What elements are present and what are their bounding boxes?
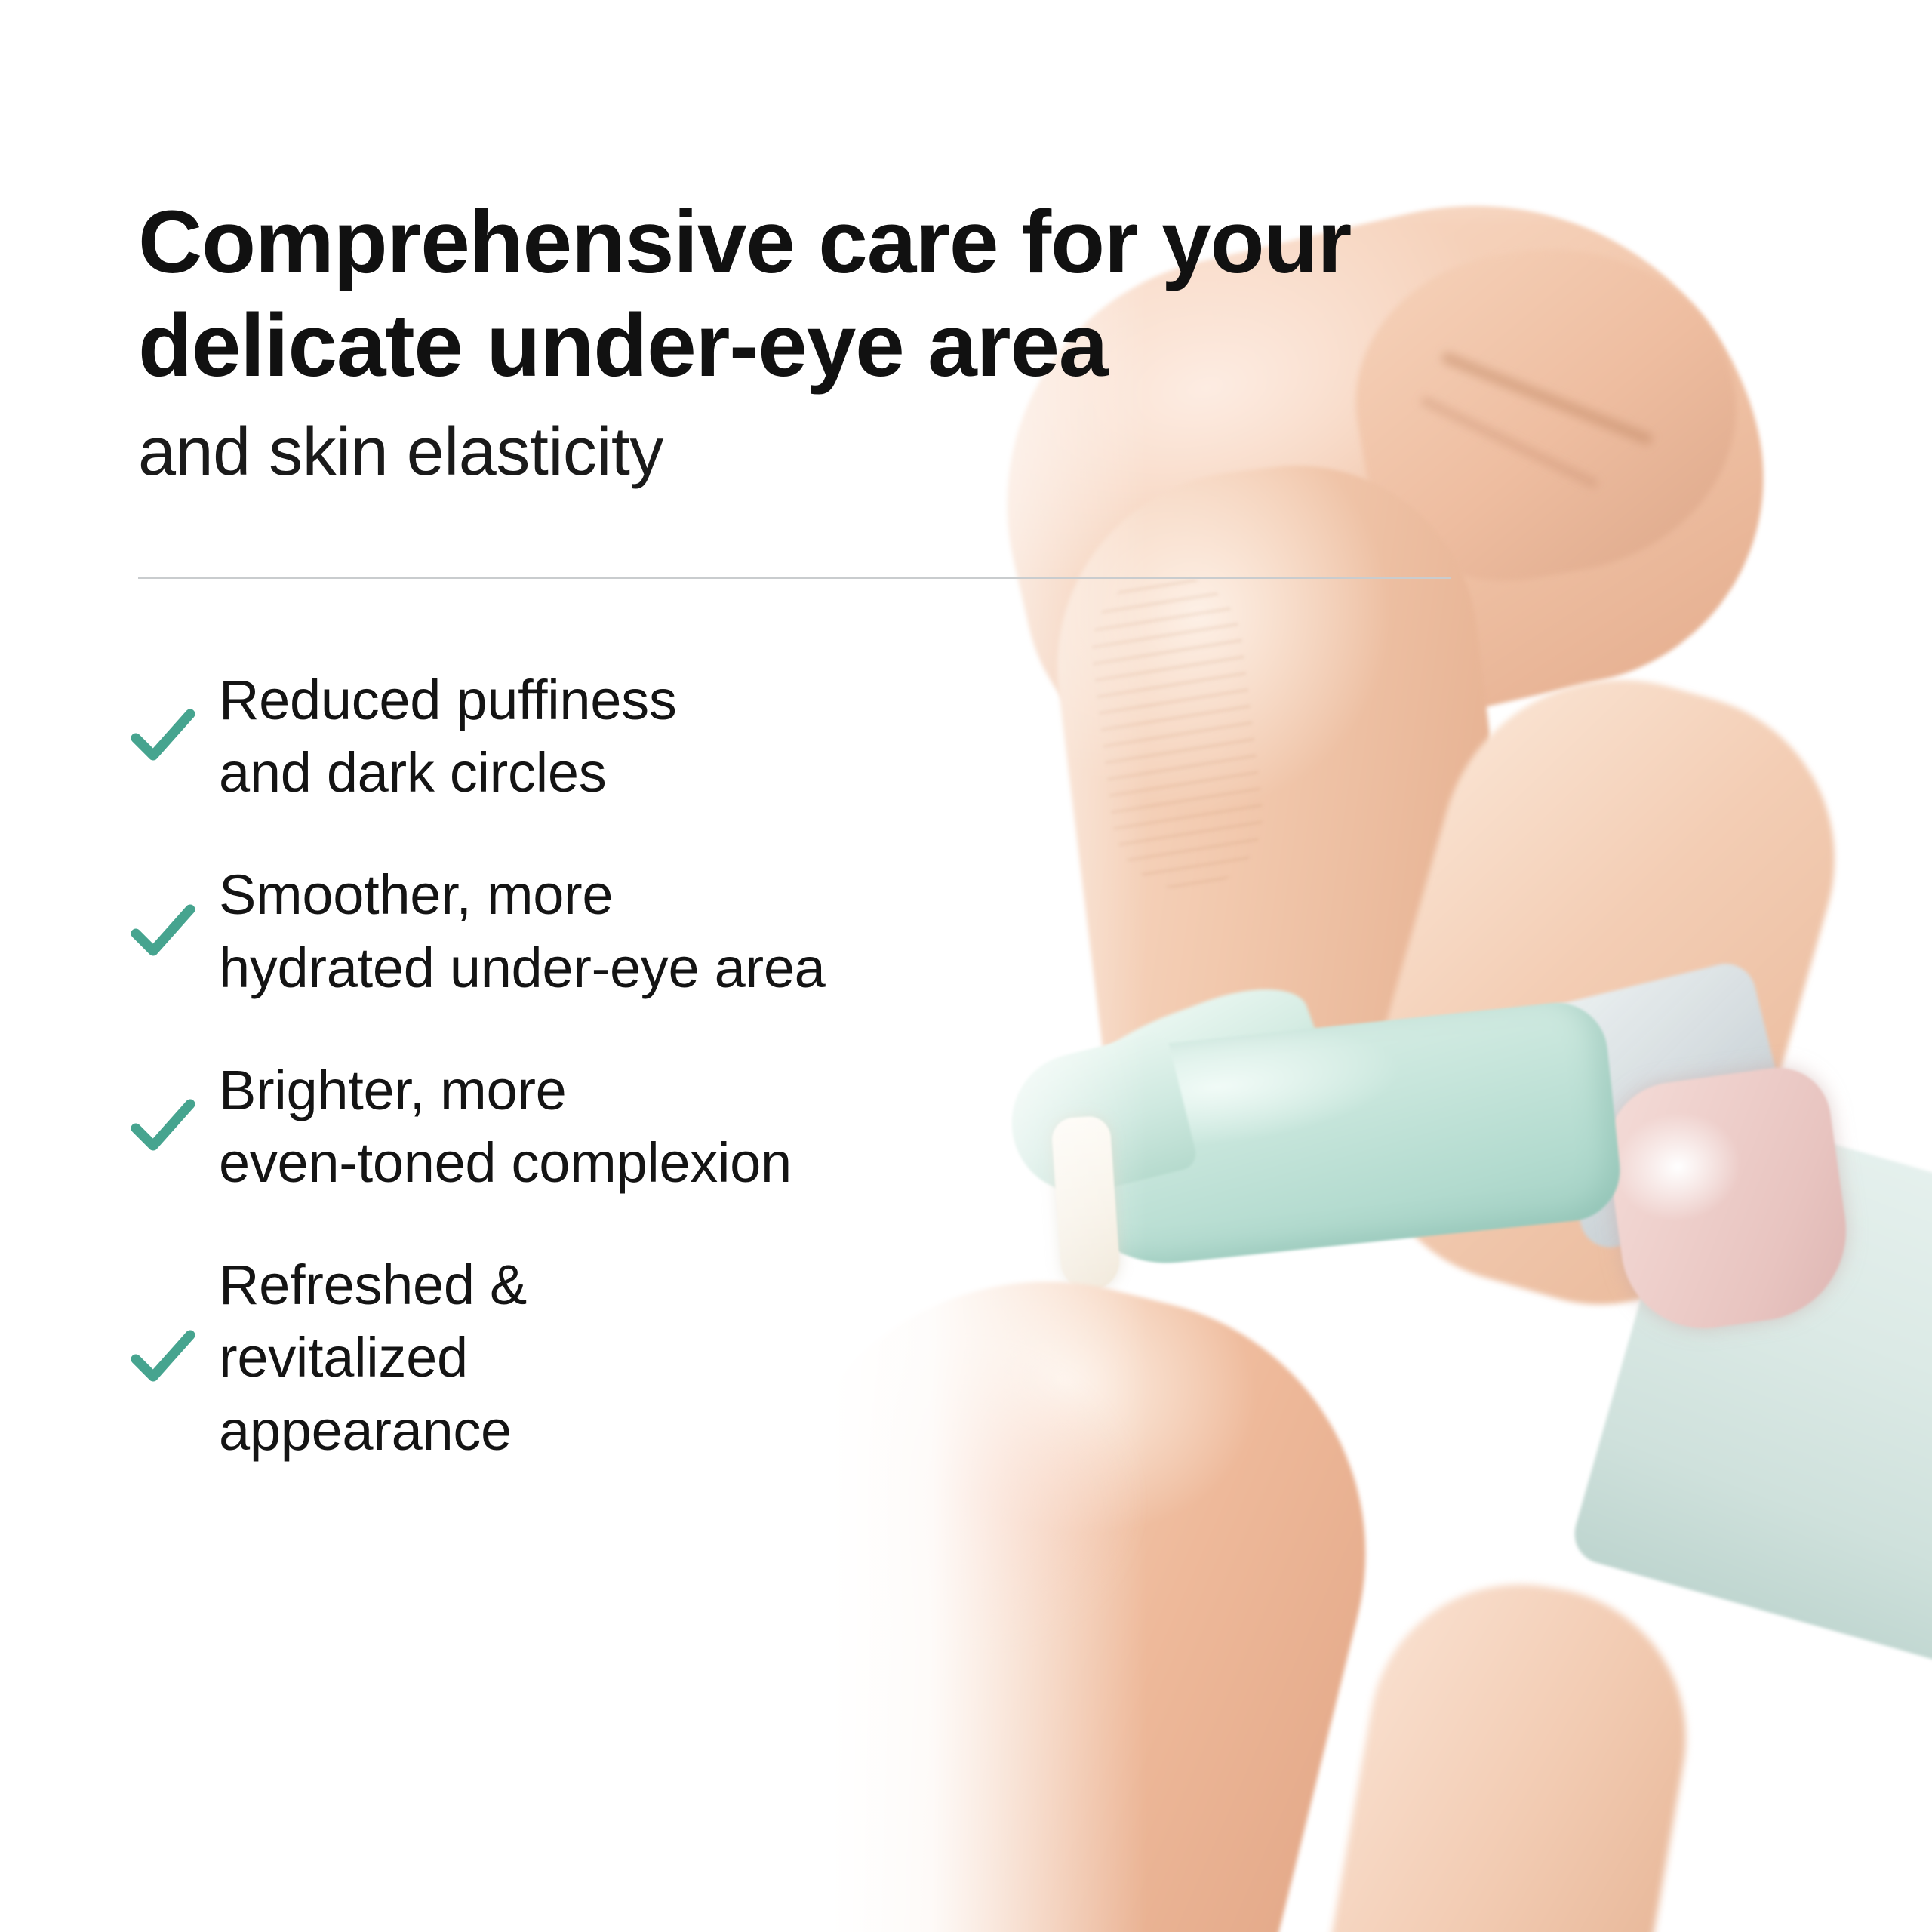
- benefit-label: Refreshed & revitalized appearance: [219, 1249, 527, 1467]
- list-item: Smoother, more hydrated under-eye area: [121, 859, 1011, 1004]
- list-item: Reduced puffiness and dark circles: [121, 664, 1011, 809]
- text-column: Comprehensive care for your delicate und…: [138, 0, 1466, 491]
- check-icon: [121, 695, 204, 778]
- benefit-label: Brighter, more even-toned complexion: [219, 1054, 792, 1199]
- list-item: Brighter, more even-toned complexion: [121, 1054, 1011, 1199]
- benefit-label: Reduced puffiness and dark circles: [219, 664, 677, 809]
- benefits-list: Reduced puffiness and dark circles Smoot…: [121, 664, 1011, 1517]
- section-divider: [138, 577, 1451, 579]
- page-subtitle: and skin elasticity: [138, 398, 1466, 491]
- headline-line-2: delicate under-eye area: [138, 294, 1444, 398]
- check-icon: [121, 891, 204, 974]
- check-icon: [121, 1316, 204, 1399]
- benefit-label: Smoother, more hydrated under-eye area: [219, 859, 826, 1004]
- infographic-canvas: Comprehensive care for your delicate und…: [0, 0, 1932, 1932]
- lower-right-finger-shape: [1324, 1561, 1710, 1932]
- headline-line-1: Comprehensive care for your: [138, 191, 1444, 294]
- page-title: Comprehensive care for your delicate und…: [138, 0, 1444, 398]
- check-icon: [121, 1085, 204, 1168]
- list-item: Refreshed & revitalized appearance: [121, 1249, 1011, 1467]
